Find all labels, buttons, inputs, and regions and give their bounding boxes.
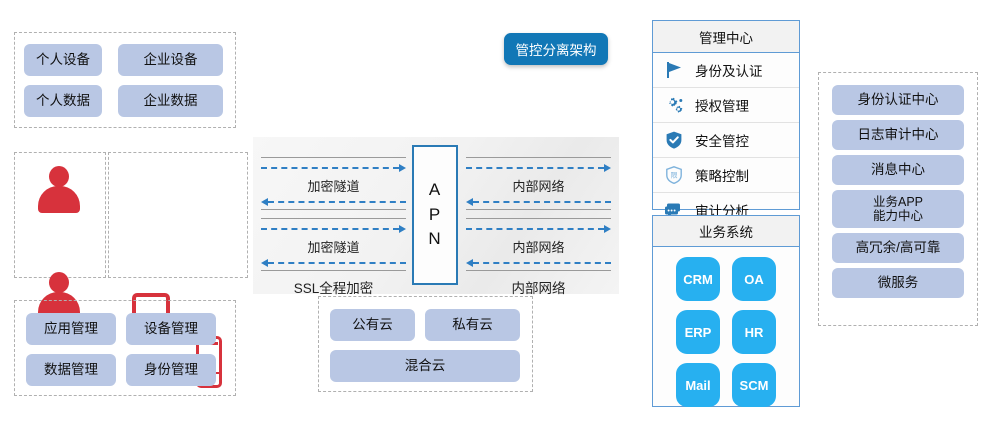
management-center-row-identity[interactable]: 身份及认证	[653, 53, 799, 88]
chip-personal-data[interactable]: 个人数据	[24, 85, 102, 117]
chip-line-1: 业务APP	[873, 195, 923, 209]
management-center-panel: 管理中心 身份及认证 授权管理 安全管控	[652, 20, 800, 210]
gears-icon	[653, 95, 695, 115]
band-footer-right: 内部网络	[466, 277, 611, 297]
band-footer-left: SSL全程加密	[261, 277, 406, 297]
management-center-row-security[interactable]: 安全管控	[653, 123, 799, 158]
app-tile-crm[interactable]: CRM	[676, 257, 720, 301]
apn-letter: A	[429, 178, 441, 203]
tunnel-arrow-right	[261, 225, 406, 233]
chip-business-app-capability-center[interactable]: 业务APP 能力中心	[832, 190, 964, 228]
shield-check-icon	[653, 130, 695, 150]
app-tile-erp[interactable]: ERP	[676, 310, 720, 354]
management-center-row-policy[interactable]: 限 策略控制	[653, 158, 799, 193]
management-center-row-label: 安全管控	[695, 130, 749, 150]
tunnel-arrow-right	[261, 164, 406, 172]
management-center-row-label: 策略控制	[695, 165, 749, 185]
person-icon	[38, 166, 80, 216]
apn-gateway[interactable]: A P N	[412, 145, 458, 285]
management-center-row-label: 授权管理	[695, 95, 749, 115]
app-tile-scm[interactable]: SCM	[732, 363, 776, 407]
devices-group	[108, 152, 248, 278]
chip-line-2: 能力中心	[873, 209, 923, 223]
chip-identity-auth-center[interactable]: 身份认证中心	[832, 85, 964, 115]
architecture-badge[interactable]: 管控分离架构	[504, 33, 608, 65]
flag-icon	[653, 60, 695, 80]
chip-log-audit-center[interactable]: 日志审计中心	[832, 120, 964, 150]
tunnel-label-left-1: 加密隧道	[261, 176, 406, 195]
app-tile-mail[interactable]: Mail	[676, 363, 720, 407]
chip-data-management[interactable]: 数据管理	[26, 354, 116, 386]
tunnel-line-top	[261, 218, 406, 219]
tunnel-arrow-left	[466, 198, 611, 206]
chip-identity-management[interactable]: 身份管理	[126, 354, 216, 386]
tunnel-line-top	[466, 157, 611, 158]
tunnel-line-bottom	[466, 270, 611, 271]
chip-app-management[interactable]: 应用管理	[26, 313, 116, 345]
tunnel-line-top	[261, 157, 406, 158]
tunnel-label-left-2: 加密隧道	[261, 237, 406, 256]
svg-text:限: 限	[671, 171, 678, 180]
chip-device-management[interactable]: 设备管理	[126, 313, 216, 345]
chip-hybrid-cloud[interactable]: 混合云	[330, 350, 520, 382]
tunnel-arrow-left	[261, 259, 406, 267]
tunnel-label-right-1: 内部网络	[466, 176, 611, 195]
apn-letter: N	[428, 227, 441, 252]
tunnel-line-top	[466, 218, 611, 219]
tunnel-line-bottom	[466, 209, 611, 210]
tunnel-arrow-right	[466, 225, 611, 233]
chip-microservice[interactable]: 微服务	[832, 268, 964, 298]
business-systems-title: 业务系统	[653, 216, 799, 247]
apn-letter: P	[429, 203, 441, 228]
business-systems-panel: 业务系统 CRM OA ERP HR Mail SCM	[652, 215, 800, 407]
tunnel-arrow-left	[261, 198, 406, 206]
tunnel-label-right-2: 内部网络	[466, 237, 611, 256]
management-center-title: 管理中心	[653, 21, 799, 53]
chip-enterprise-device[interactable]: 企业设备	[118, 44, 223, 76]
chip-public-cloud[interactable]: 公有云	[330, 309, 415, 341]
tunnel-arrow-right	[466, 164, 611, 172]
app-tile-oa[interactable]: OA	[732, 257, 776, 301]
chip-personal-device[interactable]: 个人设备	[24, 44, 102, 76]
chip-private-cloud[interactable]: 私有云	[425, 309, 520, 341]
management-center-row-authorization[interactable]: 授权管理	[653, 88, 799, 123]
chip-enterprise-data[interactable]: 企业数据	[118, 85, 223, 117]
chip-high-redundancy[interactable]: 高冗余/高可靠	[832, 233, 964, 263]
business-app-grid: CRM OA ERP HR Mail SCM	[653, 247, 799, 417]
app-tile-hr[interactable]: HR	[732, 310, 776, 354]
shield-policy-icon: 限	[653, 165, 695, 185]
tunnel-line-bottom	[261, 270, 406, 271]
tunnel-arrow-left	[466, 259, 611, 267]
chip-message-center[interactable]: 消息中心	[832, 155, 964, 185]
management-center-row-label: 身份及认证	[695, 60, 763, 80]
tunnel-line-bottom	[261, 209, 406, 210]
